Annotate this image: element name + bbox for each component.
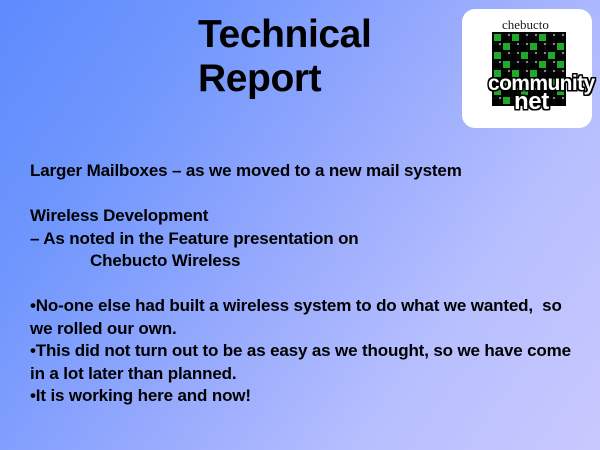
body-spacer: [30, 183, 575, 206]
slide-body: Larger Mailboxes – as we moved to a new …: [30, 160, 575, 408]
body-line-wireless-development: Wireless Development: [30, 205, 575, 228]
logo-text-net: net: [514, 90, 549, 114]
bullet-item-2: •This did not turn out to be as easy as …: [30, 340, 575, 385]
logo-inner: chebucto: [488, 18, 572, 114]
body-line-chebucto-wireless: Chebucto Wireless: [30, 250, 575, 273]
bullet-item-1: •No-one else had built a wireless system…: [30, 295, 575, 340]
chebucto-community-net-logo: chebucto: [462, 9, 592, 128]
logo-text-chebucto: chebucto: [502, 18, 582, 31]
bullet-item-3: •It is working here and now!: [30, 385, 575, 408]
body-line-feature-presentation: – As noted in the Feature presentation o…: [30, 228, 575, 251]
body-line-mailboxes: Larger Mailboxes – as we moved to a new …: [30, 160, 575, 183]
body-spacer-2: [30, 273, 575, 296]
slide-title-block: Technical Report: [198, 13, 458, 100]
page-title: Technical Report: [198, 13, 458, 100]
slide-canvas: Technical Report chebucto: [0, 0, 600, 450]
